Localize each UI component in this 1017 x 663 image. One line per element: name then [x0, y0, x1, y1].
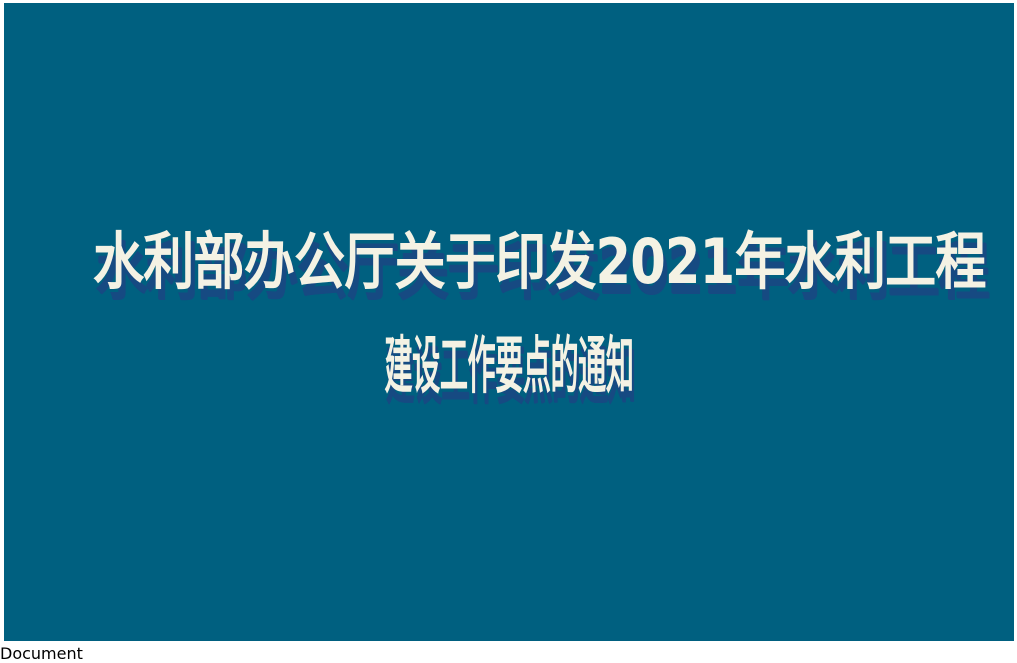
page-title-line-1: 水利部办公厅关于印发2021年水利工程 — [93, 231, 925, 293]
title-block: 水利部办公厅关于印发2021年水利工程 建设工作要点的通知 — [4, 231, 1014, 397]
page-title-line-2: 建设工作要点的通知 — [280, 335, 738, 397]
banner-canvas: 水利部办公厅关于印发2021年水利工程 建设工作要点的通知 — [4, 3, 1014, 641]
banner-frame: 水利部办公厅关于印发2021年水利工程 建设工作要点的通知 — [0, 0, 1017, 644]
